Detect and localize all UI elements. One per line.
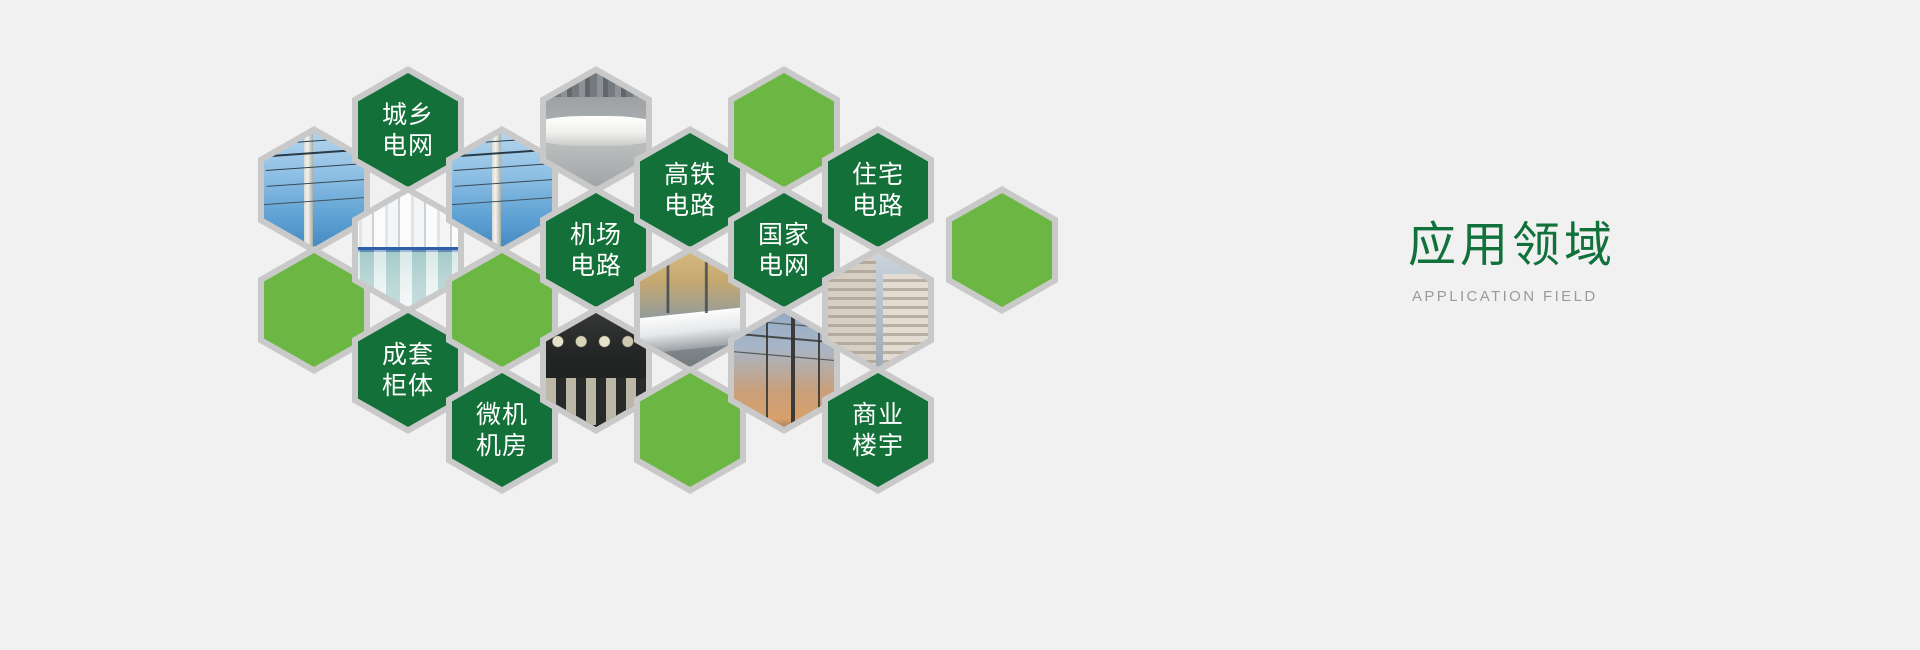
- hex-label: 城乡 电网: [382, 99, 434, 161]
- page-title: 应用领域: [1408, 216, 1616, 274]
- hex-inner: 机场 电路: [546, 193, 646, 307]
- hex-label: 商业 楼宇: [852, 399, 904, 461]
- hex-inner: [452, 133, 552, 247]
- switchgear-room-photo: [358, 193, 458, 307]
- hex-inner: [828, 253, 928, 367]
- hex-inner: [546, 313, 646, 427]
- hex-inner: [358, 193, 458, 307]
- hex-inner: [734, 73, 834, 187]
- utility-pole-photo: [264, 133, 364, 247]
- dusk-transmission-photo: [734, 313, 834, 427]
- hex-label: 微机 机房: [476, 399, 528, 461]
- hex-label: 高铁 电路: [664, 159, 716, 221]
- switchboard-panel-photo: [546, 313, 646, 427]
- hex-inner: [952, 193, 1052, 307]
- hex-inner: [264, 133, 364, 247]
- hexagon-grid: 城乡 电网成套 柜体微机 机房机场 电路高铁 电路国家 电网住宅 电路商业 楼宇: [0, 0, 1120, 650]
- utility-pole-photo: [452, 133, 552, 247]
- hex-label: 成套 柜体: [382, 339, 434, 401]
- hex-label: 机场 电路: [570, 219, 622, 281]
- hex-inner: [546, 73, 646, 187]
- hex-inner: [640, 373, 740, 487]
- hex-inner: [452, 253, 552, 367]
- high-speed-train-photo: [640, 253, 740, 367]
- application-field-banner: 城乡 电网成套 柜体微机 机房机场 电路高铁 电路国家 电网住宅 电路商业 楼宇…: [0, 0, 1920, 650]
- hex-inner: [640, 253, 740, 367]
- hex-inner: 商业 楼宇: [828, 373, 928, 487]
- page-subtitle: APPLICATION FIELD: [1412, 288, 1616, 305]
- residential-building-photo: [828, 253, 928, 367]
- hex-inner: 高铁 电路: [640, 133, 740, 247]
- title-block: 应用领域 APPLICATION FIELD: [1408, 216, 1616, 305]
- hex-inner: 城乡 电网: [358, 73, 458, 187]
- hex-cell-green-accent-right[interactable]: [946, 186, 1058, 314]
- hex-inner: 国家 电网: [734, 193, 834, 307]
- hex-inner: [264, 253, 364, 367]
- hex-inner: [734, 313, 834, 427]
- hex-inner: 住宅 电路: [828, 133, 928, 247]
- hex-inner: 微机 机房: [452, 373, 552, 487]
- hex-label: 住宅 电路: [852, 159, 904, 221]
- airport-apron-photo: [546, 73, 646, 187]
- hex-label: 国家 电网: [758, 219, 810, 281]
- hex-inner: 成套 柜体: [358, 313, 458, 427]
